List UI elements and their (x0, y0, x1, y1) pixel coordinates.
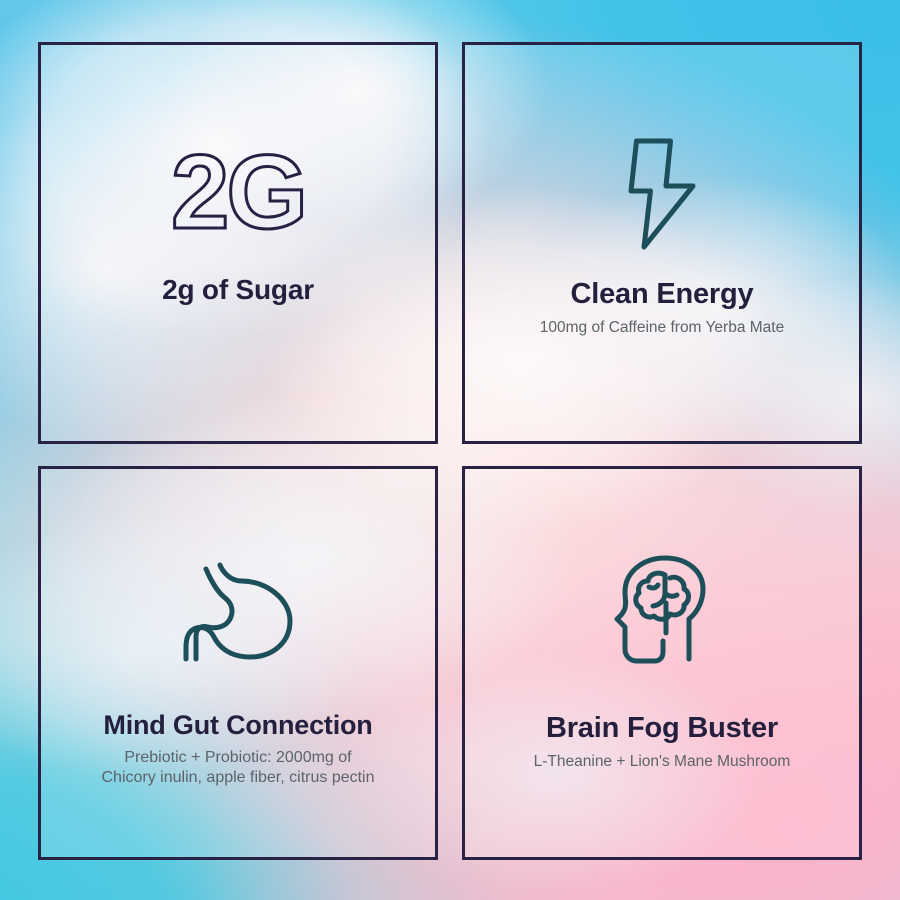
gut-icon-wrap (162, 555, 314, 667)
benefit-card-energy: Clean Energy 100mg of Caffeine from Yerb… (462, 42, 862, 444)
energy-text-block: Clean Energy 100mg of Caffeine from Yerb… (465, 279, 859, 338)
2g-outline-text-icon: 2G (171, 140, 305, 245)
benefit-card-sugar: 2G 2g of Sugar (38, 42, 438, 444)
card-title-gut: Mind Gut Connection (51, 711, 425, 741)
card-title-energy: Clean Energy (475, 279, 849, 311)
stomach-icon (162, 555, 314, 667)
card-subtitle-gut-line2: Chicory inulin, apple fiber, citrus pect… (51, 768, 425, 788)
benefit-card-gut: Mind Gut Connection Prebiotic + Probioti… (38, 466, 438, 860)
sugar-text-block: 2g of Sugar (41, 275, 435, 306)
energy-icon-wrap (620, 135, 704, 253)
sugar-icon-wrap: 2G (171, 137, 305, 247)
brain-icon-wrap (603, 553, 721, 669)
card-subtitle-gut: Prebiotic + Probiotic: 2000mg of Chicory… (51, 748, 425, 789)
gut-text-block: Mind Gut Connection Prebiotic + Probioti… (41, 711, 435, 789)
card-title-brain: Brain Fog Buster (475, 713, 849, 745)
benefits-poster: 2G 2g of Sugar Clean Energy 100mg of Caf… (0, 0, 900, 900)
benefit-card-brain: Brain Fog Buster L-Theanine + Lion's Man… (462, 466, 862, 860)
card-subtitle-energy: 100mg of Caffeine from Yerba Mate (475, 318, 849, 338)
card-title-sugar: 2g of Sugar (51, 275, 425, 306)
head-brain-icon (603, 553, 721, 669)
lightning-bolt-icon (620, 135, 704, 253)
brain-text-block: Brain Fog Buster L-Theanine + Lion's Man… (465, 713, 859, 772)
benefits-grid: 2G 2g of Sugar Clean Energy 100mg of Caf… (38, 42, 862, 860)
card-subtitle-gut-line1: Prebiotic + Probiotic: 2000mg of (51, 748, 425, 768)
card-subtitle-brain: L-Theanine + Lion's Mane Mushroom (475, 752, 849, 772)
